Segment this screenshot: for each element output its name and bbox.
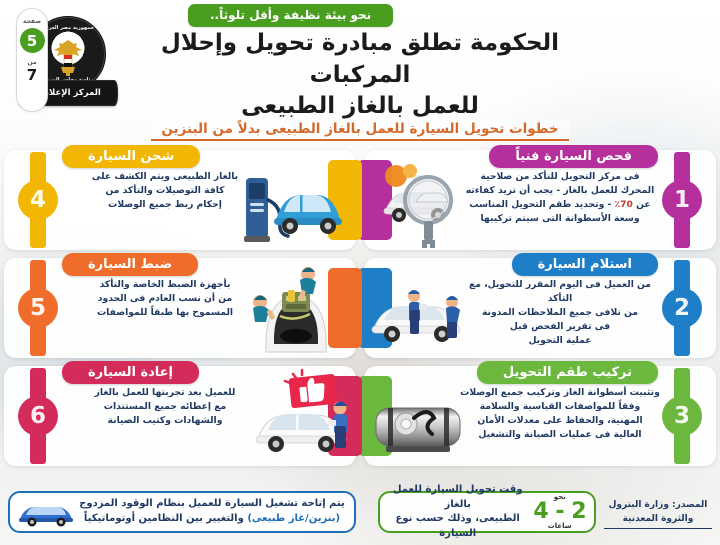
step-1-number-badge: 1 [662,180,702,220]
step-1-body: فى مركز التحويل للتأكد من صلاحية المحرك … [460,170,660,226]
step-4-body-line3: إحكام ربط جميع الوصلات [60,198,270,212]
step-1-body-line3-pre: عن [633,199,651,210]
conversion-time-text: وقت تحويل السيارة للعمل بالغاز الطبيعى، … [388,483,527,541]
page-indicator-of: من [27,59,36,66]
page-title: الحكومة تطلق مبادرة تحويل وإحلال المركبا… [120,28,600,123]
page-indicator-label: صفحة [23,18,41,25]
step-2-body-line3: فى تقرير الفحص قبل [460,320,660,334]
step-5-body-line3: المسموح بها طبقاً للمواصفات [60,306,270,320]
step-3-body-line4: العالية فى عمليات الصيانة والتشغيل [460,428,660,442]
step-1-body-line3-post: - وتحديد طقم التحويل المناسب [469,199,614,210]
thumbs-up-badge [285,370,337,408]
step-6-body-line3: والشهادات وكتيب الصيانة [60,414,270,428]
dual-fuel-modes: (بنزين/غاز طبيعى) [247,513,340,524]
page-indicator-current: 5 [20,28,45,53]
subtitle-text: خطوات تحويل السيارة للعمل بالغاز الطبيعى… [151,120,568,141]
infographic-page: نحو بيئة نظيفة وأقل تلوثاً.. الحكومة تطل… [0,0,720,545]
source-line1: المصدر: وزارة البترول [604,499,712,513]
step-5-title: ضبط السيارة [62,253,198,276]
steps-grid: 1 فحص السيارة فنياً [4,148,716,480]
step-5-number-badge: 5 [18,288,58,328]
step-2-body-line4: عملية التحويل [460,334,660,348]
dual-fuel-box: يتم إتاحة تشغيل السيارة للعميل بنظام الو… [8,491,356,533]
step-5-body: بأجهزة الضبط الخاصة والتأكد من أن نسب ال… [60,278,270,320]
steps-column-right: 1 فحص السيارة فنياً [364,148,716,480]
step-1-efficiency-value: 70٪ [615,199,633,210]
page-title-line1: الحكومة تطلق مبادرة تحويل وإحلال المركبا… [120,28,600,91]
source-line2: والثروة المعدنية [604,513,712,527]
footer: المصدر: وزارة البترول والثروة المعدنية ن… [0,479,720,545]
conversion-time-text-line1: وقت تحويل السيارة للعمل بالغاز [388,483,527,512]
step-6-body-line1: للعميل بعد تجربتها للعمل بالغاز [60,386,270,400]
step-1-title: فحص السيارة فنياً [489,145,658,168]
step-4-title: شحن السيارة [62,145,200,168]
step-5-body-line2: من أن نسب العادم فى الحدود [60,292,270,306]
step-1-body-line4: وسعة الأسطوانة التى سيتم تركيبها [460,212,660,226]
step-2-body-line2: من تلافى جميع الملاحظات المدونة [460,306,660,320]
dual-fuel-text-line2: (بنزين/غاز طبيعى) والتغيير بين النظامين … [76,512,348,527]
dual-fuel-text-line1: يتم إتاحة تشغيل السيارة للعميل بنظام الو… [76,497,348,512]
page-indicator: صفحة 5 من 7 [16,8,48,112]
step-card-3[interactable]: 3 تركيب طقم التحويل [364,366,716,466]
dual-fuel-text: يتم إتاحة تشغيل السيارة للعميل بنظام الو… [76,497,348,527]
step-3-title: تركيب طقم التحويل [477,361,658,384]
step-6-body-line2: مع إعطائه جميع المستندات [60,400,270,414]
step-1-body-line1: فى مركز التحويل للتأكد من صلاحية [460,170,660,184]
step-6-number-badge: 6 [18,396,58,436]
step-4-number-badge: 4 [18,180,58,220]
step-2-title: استلام السيارة [512,253,658,276]
step-card-1[interactable]: 1 فحص السيارة فنياً [364,150,716,250]
tagline-banner: نحو بيئة نظيفة وأقل تلوثاً.. [188,4,393,27]
subtitle-container: خطوات تحويل السيارة للعمل بالغاز الطبيعى… [0,118,720,141]
step-card-2[interactable]: 2 استلام السيارة [364,258,716,358]
step-3-body-line1: وتثبيت أسطوانة الغاز وتركيب جميع الوصلات [460,386,660,400]
eagle-of-saladin-icon [51,39,85,77]
step-1-body-line2: المحرك للعمل بالغاز - يجب أن تزيد كفاءته [460,184,660,198]
step-card-4[interactable]: 4 شحن السيارة [4,150,356,250]
magnifier-shape [405,177,451,248]
step-3-body-line3: المهنية، والحفاظ على معدلات الأمان [460,414,660,428]
step-2-body: من العميل فى اليوم المقرر للتحويل، مع ال… [460,278,660,348]
step-3-body: وتثبيت أسطوانة الغاز وتركيب جميع الوصلات… [460,386,660,442]
conversion-time-unit: ساعات [548,523,572,530]
conversion-time-hours: 2 - 4 [533,501,586,523]
step-2-number-badge: 2 [662,288,702,328]
dual-fuel-text-line2-post: والتغيير بين النظامين أوتوماتيكياً [84,513,247,524]
step-1-body-line3: عن 70٪ - وتحديد طقم التحويل المناسب [460,198,660,212]
steps-column-left: 4 شحن السيارة [4,148,356,480]
step-5-body-line1: بأجهزة الضبط الخاصة والتأكد [60,278,270,292]
step-6-body: للعميل بعد تجربتها للعمل بالغاز مع إعطائ… [60,386,270,428]
step-6-title: إعادة السيارة [62,361,199,384]
blue-car-icon [16,497,76,527]
step-4-body-line1: بالغاز الطبيعى ويتم الكشف على [60,170,270,184]
step-3-number-badge: 3 [662,396,702,436]
conversion-time-box: نحو 2 - 4 ساعات وقت تحويل السيارة للعمل … [378,491,596,533]
conversion-time-value-group: نحو 2 - 4 ساعات [533,494,586,530]
step-4-body: بالغاز الطبيعى ويتم الكشف على كافة التوص… [60,170,270,212]
step-4-body-line2: كافة التوصيلات والتأكد من [60,184,270,198]
step-3-body-line2: وفقاً للمواصفات القياسية والسلامة [460,400,660,414]
step-2-body-line1: من العميل فى اليوم المقرر للتحويل، مع ال… [460,278,660,306]
header: نحو بيئة نظيفة وأقل تلوثاً.. الحكومة تطل… [0,0,720,118]
blue-hatchback-shape [274,195,342,234]
step-card-5[interactable]: 5 ضبط السيارة [4,258,356,358]
step-card-6[interactable]: 6 إعادة السيارة [4,366,356,466]
source-attribution: المصدر: وزارة البترول والثروة المعدنية [604,499,712,529]
conversion-time-text-line2: الطبيعى، وذلك حسب نوع السيارة [388,512,527,541]
page-indicator-total: 7 [27,68,37,83]
